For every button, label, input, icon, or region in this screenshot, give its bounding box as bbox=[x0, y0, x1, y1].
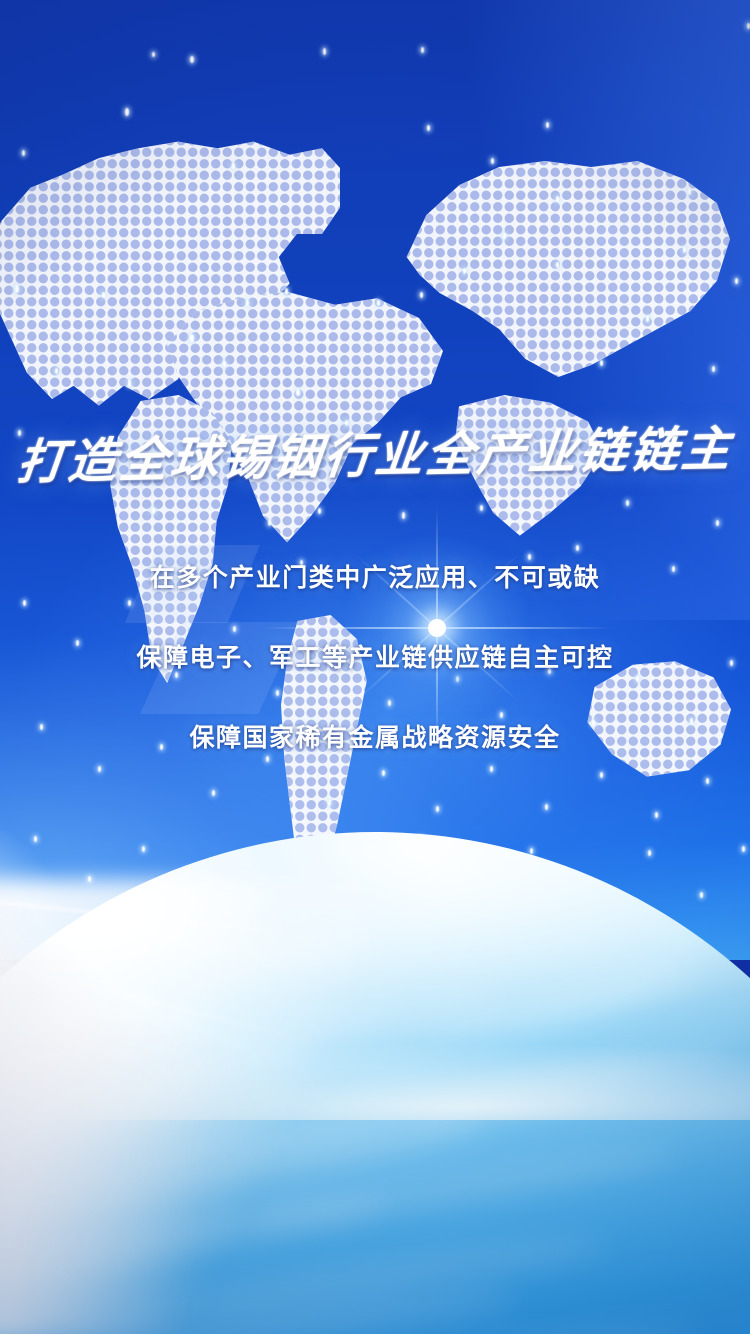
sparkle-icon bbox=[285, 288, 288, 295]
sparkle-icon bbox=[712, 366, 715, 372]
subtitle-line-2: 保障电子、军工等产业链供应链自主可控 bbox=[0, 641, 750, 675]
sparkle-icon bbox=[377, 300, 380, 306]
sparkle-icon bbox=[190, 56, 194, 63]
earth-limb bbox=[0, 832, 750, 1334]
sparkle-icon bbox=[648, 850, 651, 856]
sparkle-icon bbox=[88, 876, 91, 882]
sparkle-icon bbox=[500, 712, 503, 718]
sparkle-icon bbox=[655, 812, 658, 818]
sparkle-icon bbox=[530, 848, 533, 854]
sparkle-icon bbox=[233, 626, 236, 632]
sparkle-icon bbox=[34, 836, 37, 842]
sparkle-icon bbox=[626, 500, 629, 506]
sparkle-icon bbox=[490, 766, 493, 772]
sparkle-icon bbox=[463, 268, 466, 274]
sparkle-icon bbox=[212, 790, 215, 796]
sparkle-icon bbox=[125, 108, 129, 116]
sparkle-icon bbox=[421, 47, 424, 53]
sparkle-icon bbox=[683, 247, 686, 253]
sparkle-icon bbox=[636, 676, 639, 682]
sparkle-icon bbox=[23, 600, 26, 606]
sparkle-icon bbox=[15, 285, 19, 293]
subtitle-line-3: 保障国家稀有金属战略资源安全 bbox=[0, 721, 750, 755]
sparkle-icon bbox=[646, 316, 649, 322]
sparkle-icon bbox=[328, 800, 331, 806]
sparkle-icon bbox=[716, 520, 719, 526]
sparkle-icon bbox=[576, 545, 579, 551]
sparkle-icon bbox=[700, 892, 703, 898]
sparkle-icon bbox=[142, 846, 145, 852]
subtitle-line-1: 在多个产业门类中广泛应用、不可或缺 bbox=[0, 561, 750, 595]
sparkle-icon bbox=[190, 334, 194, 342]
sparkle-icon bbox=[436, 806, 439, 812]
sparkle-icon bbox=[600, 360, 603, 366]
sparkle-icon bbox=[503, 233, 506, 239]
sparkle-icon bbox=[546, 122, 549, 128]
sparkle-icon bbox=[246, 300, 249, 306]
sparkle-icon bbox=[706, 778, 709, 784]
sparkle-icon bbox=[528, 554, 531, 560]
sparkle-icon bbox=[323, 48, 326, 55]
sparkle-icon bbox=[480, 505, 483, 511]
sparkle-icon bbox=[22, 150, 25, 156]
sparkle-icon bbox=[600, 772, 603, 778]
sparkle-icon bbox=[382, 770, 385, 776]
sparkle-icon bbox=[296, 389, 300, 396]
sparkle-icon bbox=[152, 52, 155, 57]
sparkle-icon bbox=[688, 188, 691, 195]
sparkle-icon bbox=[491, 158, 494, 164]
sparkle-icon bbox=[735, 278, 738, 284]
sparkle-icon bbox=[232, 163, 235, 169]
sparkle-icon bbox=[556, 262, 559, 268]
sparkle-icon bbox=[420, 292, 423, 298]
sparkle-icon bbox=[556, 196, 559, 202]
sparkle-icon bbox=[742, 846, 745, 852]
sparkle-icon bbox=[268, 520, 271, 526]
sparkle-icon bbox=[276, 690, 279, 696]
sparkle-icon bbox=[266, 756, 269, 762]
sparkle-icon bbox=[55, 368, 58, 374]
continent-east-asia bbox=[400, 155, 730, 455]
sparkle-icon bbox=[402, 512, 405, 519]
sparkle-icon bbox=[128, 600, 131, 606]
sparkle-icon bbox=[223, 361, 226, 367]
sparkle-icon bbox=[98, 766, 101, 772]
poster-canvas: 打造全球锡铟行业全产业链链主 在多个产业门类中广泛应用、不可或缺 保障电子、军工… bbox=[0, 0, 750, 1334]
sparkle-icon bbox=[318, 508, 321, 514]
sparkle-icon bbox=[152, 508, 155, 514]
sparkle-icon bbox=[545, 804, 548, 810]
sparkle-icon bbox=[427, 125, 430, 131]
sparkle-icon bbox=[102, 292, 105, 298]
sparkle-icon bbox=[128, 380, 131, 387]
